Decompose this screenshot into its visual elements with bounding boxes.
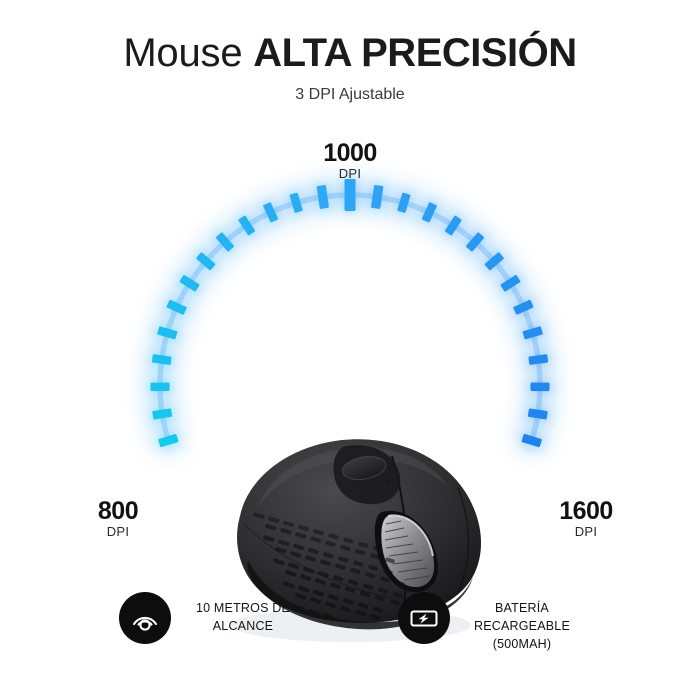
feature-wireless-range: 10 METROS DE ALCANCE: [119, 592, 302, 644]
arc-glow-halo: [160, 195, 540, 441]
feature-rechargeable-battery: BATERÍA RECARGEABLE (500MAH): [398, 592, 581, 653]
dpi-tick: [530, 382, 549, 391]
page-title: Mouse ALTA PRECISIÓN: [0, 0, 700, 76]
dpi-unit: DPI: [300, 167, 400, 181]
dpi-tick: [345, 179, 356, 211]
header: Mouse ALTA PRECISIÓN 3 DPI Ajustable: [0, 0, 700, 104]
wireless-range-icon: [119, 592, 171, 644]
title-bold-part: ALTA PRECISIÓN: [253, 31, 576, 75]
dpi-tick: [150, 382, 169, 391]
feature-row: 10 METROS DE ALCANCE BATERÍA RECARGEABLE…: [0, 592, 700, 682]
feature-label: 10 METROS DE ALCANCE: [184, 592, 302, 635]
dpi-label-800: 800 DPI: [78, 498, 158, 539]
arc-track: [160, 195, 540, 441]
page-subtitle: 3 DPI Ajustable: [0, 76, 700, 104]
dpi-value: 1600: [542, 498, 630, 524]
dpi-led-indicator: [387, 480, 391, 484]
dpi-unit: DPI: [542, 525, 630, 539]
feature-label: BATERÍA RECARGEABLE (500MAH): [463, 592, 581, 653]
dpi-gauge: 1000 DPI 800 DPI 1600 DPI: [0, 130, 700, 560]
dpi-value: 800: [78, 498, 158, 524]
rechargeable-battery-icon: [398, 592, 450, 644]
dpi-label-1600: 1600 DPI: [542, 498, 630, 539]
dpi-tick-group: [150, 179, 549, 447]
tick-glow-group: [150, 179, 549, 447]
dpi-unit: DPI: [78, 525, 158, 539]
dpi-label-1000: 1000 DPI: [300, 140, 400, 181]
title-light-part: Mouse: [123, 31, 253, 75]
product-feature-page: Mouse ALTA PRECISIÓN 3 DPI Ajustable: [0, 0, 700, 700]
dpi-value: 1000: [300, 140, 400, 166]
